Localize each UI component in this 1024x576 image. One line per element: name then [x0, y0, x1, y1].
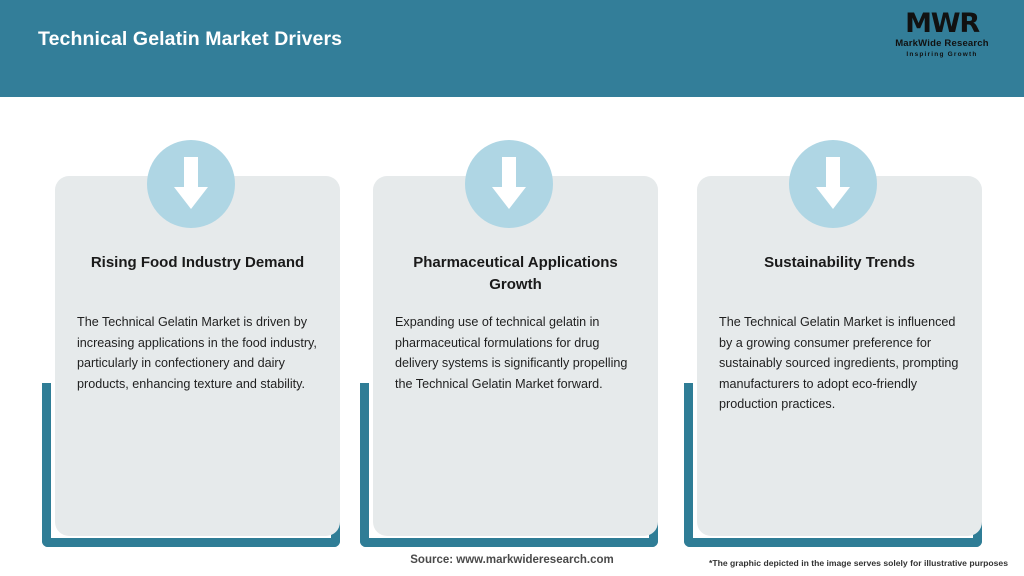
- card-panel: Rising Food Industry Demand The Technica…: [55, 176, 340, 536]
- card-title: Sustainability Trends: [719, 252, 960, 274]
- logo-company-name: MarkWide Research: [882, 38, 1002, 50]
- arrow-down-icon: [789, 140, 877, 228]
- page-title: Technical Gelatin Market Drivers: [38, 28, 342, 51]
- arrow-down-icon: [147, 140, 235, 228]
- page-header: Technical Gelatin Market Drivers MWR Mar…: [0, 0, 1024, 97]
- card-panel: Pharmaceutical Applications Growth Expan…: [373, 176, 658, 536]
- logo-monogram-icon: MWR: [882, 10, 1002, 38]
- card-body-text: Expanding use of technical gelatin in ph…: [395, 312, 642, 394]
- card-body-text: The Technical Gelatin Market is influenc…: [719, 312, 966, 415]
- card-title: Rising Food Industry Demand: [77, 252, 318, 274]
- card-body-text: The Technical Gelatin Market is driven b…: [77, 312, 324, 394]
- brand-logo: MWR MarkWide Research Inspiring Growth: [882, 10, 1002, 66]
- card-title: Pharmaceutical Applications Growth: [395, 252, 636, 296]
- driver-card-1: Rising Food Industry Demand The Technica…: [42, 97, 340, 547]
- driver-card-3: Sustainability Trends The Technical Gela…: [684, 97, 982, 547]
- logo-tagline: Inspiring Growth: [882, 50, 1002, 59]
- driver-cards-container: Rising Food Industry Demand The Technica…: [0, 97, 1024, 547]
- driver-card-2: Pharmaceutical Applications Growth Expan…: [360, 97, 658, 547]
- card-panel: Sustainability Trends The Technical Gela…: [697, 176, 982, 536]
- arrow-down-icon: [465, 140, 553, 228]
- disclaimer-note: *The graphic depicted in the image serve…: [709, 558, 1008, 568]
